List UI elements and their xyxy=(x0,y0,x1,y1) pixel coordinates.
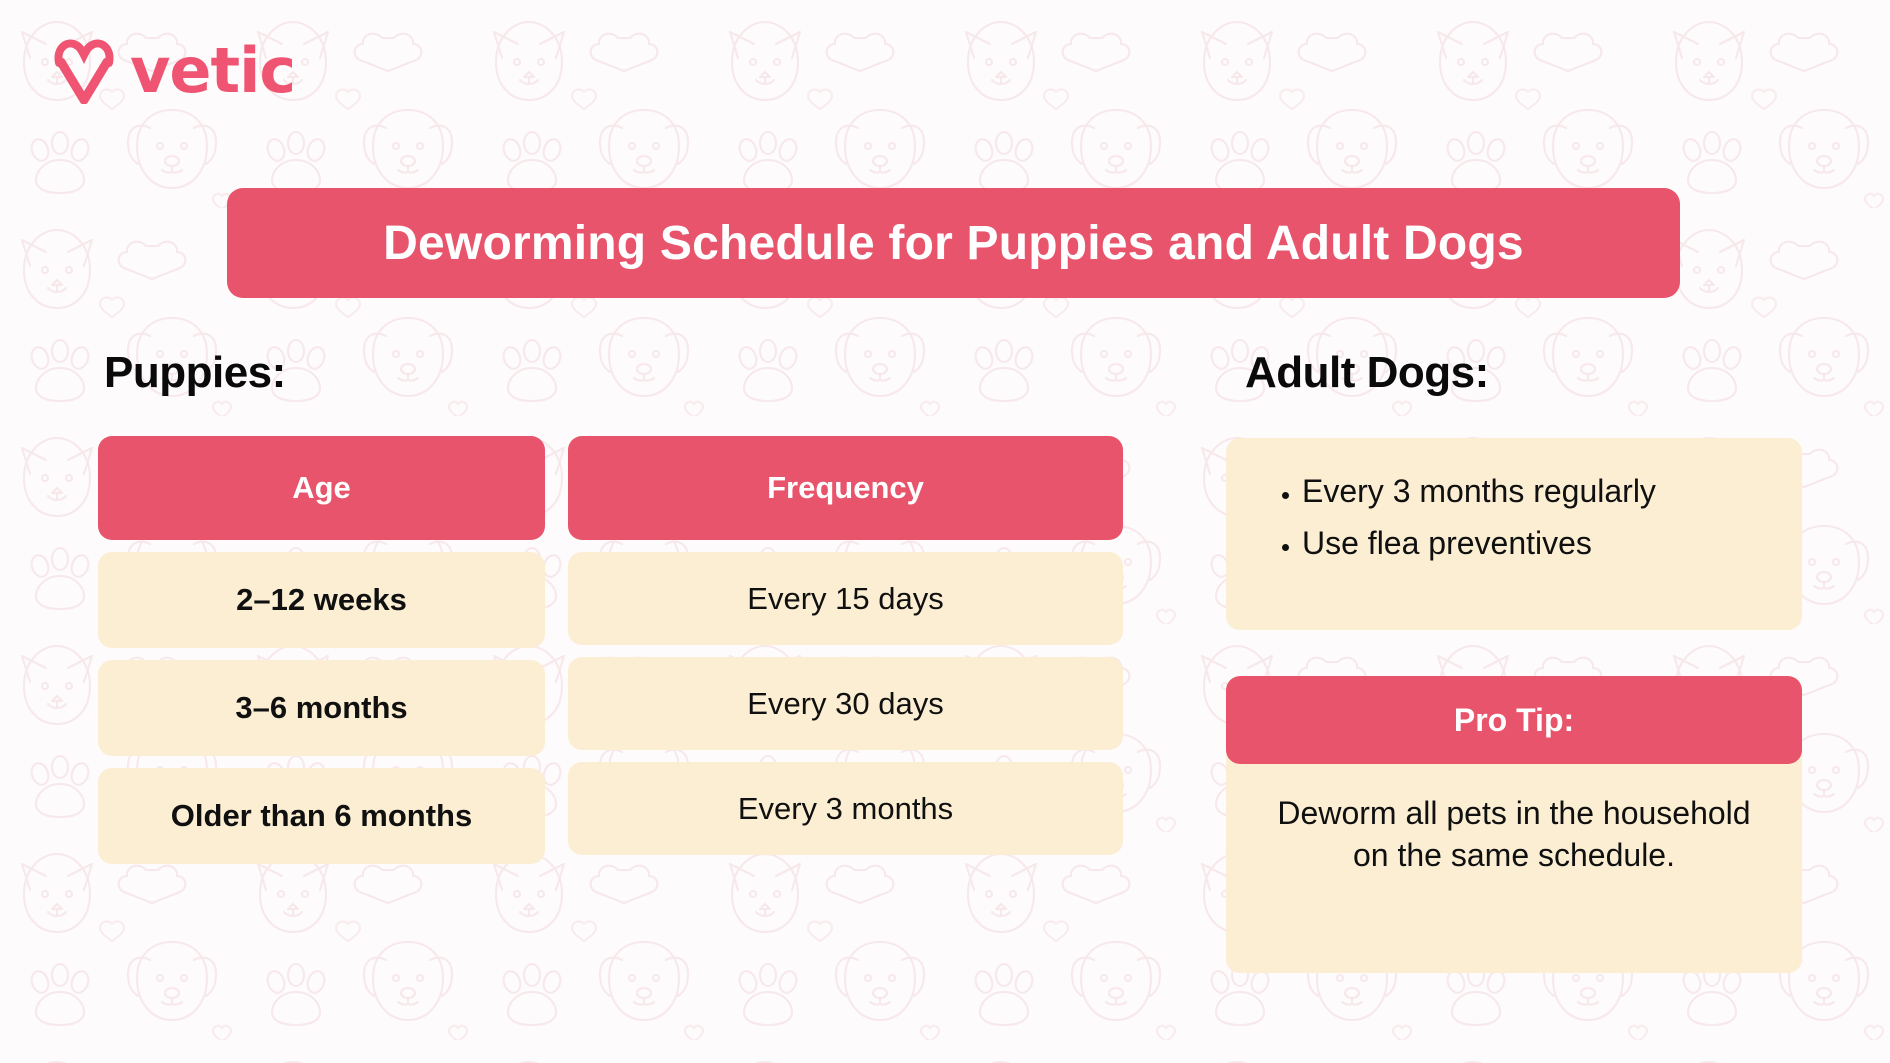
frequency-column: Frequency Every 15 days Every 30 days Ev… xyxy=(568,436,1123,864)
pro-tip-card: Pro Tip: Deworm all pets in the househol… xyxy=(1226,676,1802,973)
brand-logo: vetic xyxy=(52,38,295,104)
pro-tip-body: Deworm all pets in the household on the … xyxy=(1226,764,1802,876)
table-cell-frequency: Every 3 months xyxy=(568,762,1123,855)
puppies-section-heading: Puppies: xyxy=(104,348,286,398)
list-item: Use flea preventives xyxy=(1302,518,1772,570)
table-cell-frequency: Every 15 days xyxy=(568,552,1123,645)
page-title: Deworming Schedule for Puppies and Adult… xyxy=(383,216,1524,271)
adult-dogs-bullet-card: Every 3 months regularly Use flea preven… xyxy=(1226,438,1802,630)
table-cell-age: 3–6 months xyxy=(98,660,545,756)
table-cell-frequency: Every 30 days xyxy=(568,657,1123,750)
adult-dogs-bullet-list: Every 3 months regularly Use flea preven… xyxy=(1270,466,1772,570)
table-cell-age: Older than 6 months xyxy=(98,768,545,864)
title-banner: Deworming Schedule for Puppies and Adult… xyxy=(227,188,1680,298)
column-header-age: Age xyxy=(98,436,545,540)
pro-tip-header: Pro Tip: xyxy=(1226,676,1802,764)
column-header-frequency: Frequency xyxy=(568,436,1123,540)
age-column: Age 2–12 weeks 3–6 months Older than 6 m… xyxy=(98,436,545,864)
puppies-schedule-table: Age 2–12 weeks 3–6 months Older than 6 m… xyxy=(98,436,1123,864)
heart-v-logo-icon xyxy=(52,38,116,104)
infographic-page: vetic Deworming Schedule for Puppies and… xyxy=(0,0,1890,1063)
adult-dogs-section-heading: Adult Dogs: xyxy=(1245,348,1489,398)
list-item: Every 3 months regularly xyxy=(1302,466,1772,518)
table-cell-age: 2–12 weeks xyxy=(98,552,545,648)
brand-name: vetic xyxy=(130,40,295,102)
